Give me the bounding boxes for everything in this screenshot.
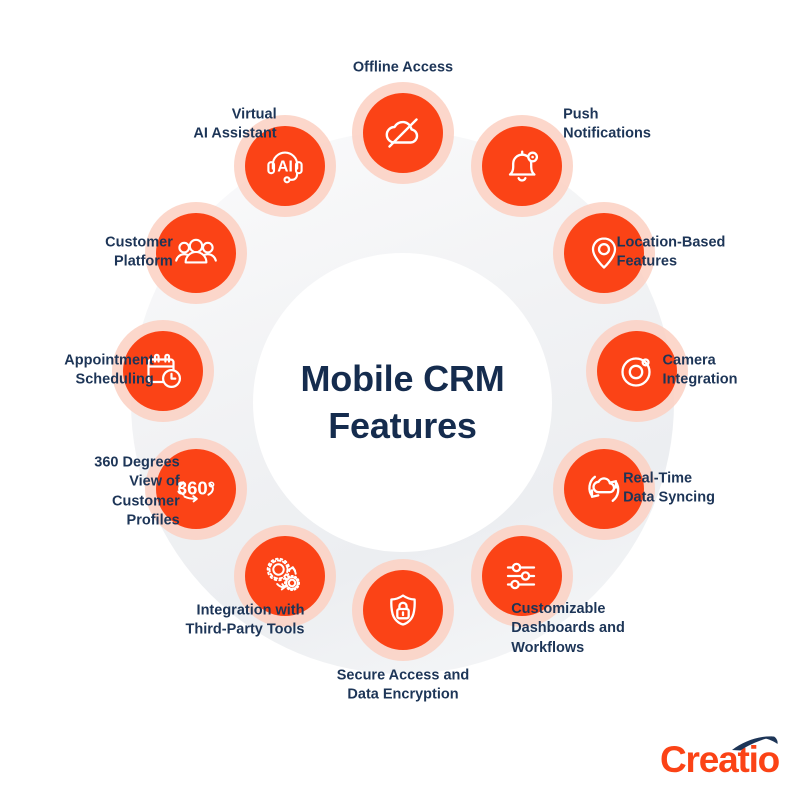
infographic-canvas: Mobile CRM Features Offline Access Push … (0, 0, 805, 805)
label-offline-access: Offline Access (353, 58, 453, 77)
label-location-based-features: Location-Based Features (617, 234, 726, 273)
label-virtual-ai-assistant: Virtual AI Assistant (193, 106, 276, 145)
svg-text:AI: AI (277, 159, 293, 176)
swoosh-arrow-icon (731, 735, 779, 753)
label-camera-integration: Camera Integration (663, 352, 738, 391)
label-customizable-dashboards-and-workflows: Customizable Dashboards and Workflows (511, 600, 625, 658)
page-title: Mobile CRM Features (252, 252, 553, 553)
cloud-slash-icon (363, 93, 443, 173)
label-integration-with-third-party-tools: Integration with Third-Party Tools (186, 602, 305, 641)
shield-lock-icon (363, 570, 443, 650)
label-appointment-scheduling: Appointment Scheduling (64, 352, 153, 391)
node-secure-access-and-data-encryption[interactable] (352, 559, 454, 661)
bell-icon (482, 126, 562, 206)
label-real-time-data-syncing: Real-Time Data Syncing (623, 470, 715, 509)
label-360-degrees-view-of-customer-profiles: 360 Degrees View of Customer Profiles (94, 453, 179, 530)
svg-text:360°: 360° (177, 478, 215, 499)
creatio-logo[interactable]: Creatio (660, 739, 788, 781)
label-push-notifications: Push Notifications (563, 106, 651, 145)
label-customer-platform: Customer Platform (105, 234, 173, 273)
node-offline-access[interactable] (352, 82, 454, 184)
label-secure-access-and-data-encryption: Secure Access and Data Encryption (337, 667, 469, 706)
